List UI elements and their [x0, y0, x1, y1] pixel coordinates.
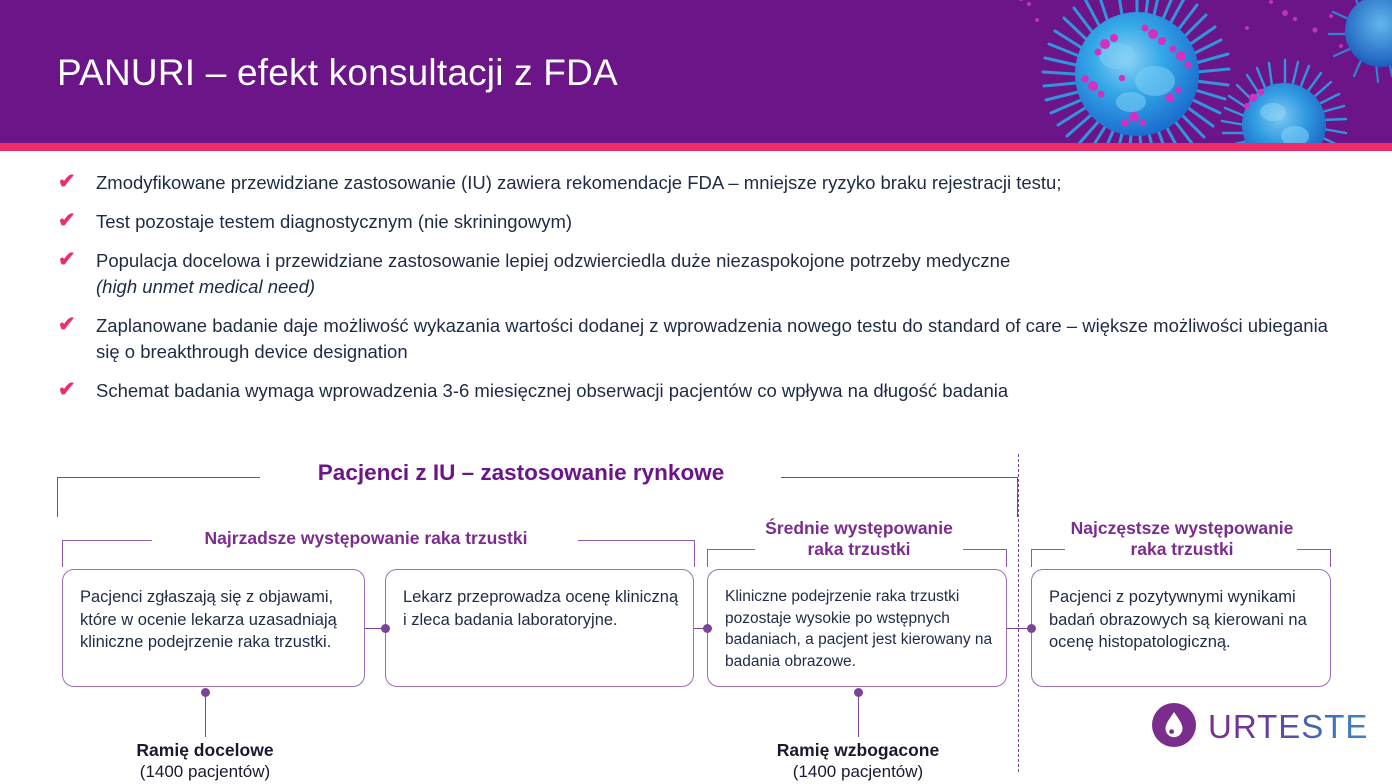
- list-item-text: Populacja docelowa i przewidziane zastos…: [96, 250, 1356, 300]
- flow-step-4[interactable]: Pacjenci z pozytywnymi wynikami badań ob…: [1031, 569, 1331, 687]
- flow-step-2[interactable]: Lekarz przeprowadza ocenę kliniczną i zl…: [385, 569, 694, 687]
- group-label-frequent-line2: raka trzustki: [1067, 539, 1297, 560]
- enriched-arm-label: Ramię wzbogacone (1400 pacjentów): [738, 739, 978, 783]
- urteste-logo: URTESTE: [1152, 700, 1352, 752]
- check-icon: ✔: [58, 210, 80, 232]
- page-title: PANURI – efekt konsultacji z FDA: [57, 52, 618, 94]
- group-frequent-left-rule: [1031, 549, 1065, 550]
- cell-artwork-icon: [985, 0, 1392, 143]
- group-medium-left-tick: [707, 549, 708, 567]
- market-scope-title: Pacjenci z IU – zastosowanie rynkowe: [265, 462, 777, 483]
- enriched-arm-count: (1400 pacjentów): [738, 761, 978, 783]
- slide-root: PANURI – efekt konsultacji z FDA ✔ Zmody…: [0, 0, 1392, 784]
- list-item: ✔ Zaplanowane badanie daje możliwość wyk…: [56, 313, 1356, 365]
- enriched-arm-leader-line: [858, 692, 859, 737]
- check-icon: ✔: [58, 314, 80, 336]
- flow-step-1-text: Pacjenci zgłaszają się z objawami, które…: [80, 586, 354, 654]
- group-frequent-left-tick: [1031, 549, 1032, 567]
- list-item: ✔ Populacja docelowa i przewidziane zast…: [56, 248, 1356, 300]
- header-accent-stripe: [0, 143, 1392, 151]
- group-label-rare: Najrzadsze występowanie raka trzustki: [156, 528, 576, 549]
- scope-divider: [1018, 454, 1019, 772]
- group-medium-left-rule: [707, 549, 755, 550]
- logo-circle-mark: [1152, 703, 1196, 747]
- list-item-text: Zaplanowane badanie daje możliwość wykaz…: [96, 315, 1328, 362]
- list-item: ✔ Test pozostaje testem diagnostycznym (…: [56, 209, 1356, 235]
- group-label-frequent-line1: Najczęstsze występowanie: [1067, 518, 1297, 539]
- target-arm-leader-line: [205, 692, 206, 737]
- flow-step-1[interactable]: Pacjenci zgłaszają się z objawami, które…: [62, 569, 365, 687]
- group-label-medium-line1: Średnie występowanie: [756, 518, 962, 539]
- list-item: ✔ Schemat badania wymaga wprowadzenia 3-…: [56, 378, 1356, 404]
- check-icon: ✔: [58, 379, 80, 401]
- flow-step-4-text: Pacjenci z pozytywnymi wynikami badań ob…: [1049, 586, 1320, 654]
- check-icon: ✔: [58, 249, 80, 271]
- list-item-text: Zmodyfikowane przewidziane zastosowanie …: [96, 172, 1061, 193]
- market-bracket-left-tick: [57, 477, 58, 517]
- group-frequent-right-tick: [1330, 549, 1331, 567]
- group-rare-left-tick: [62, 540, 63, 567]
- connector-1-2-dot: [381, 624, 390, 633]
- group-medium-right-tick: [1006, 549, 1007, 567]
- enriched-arm-name: Ramię wzbogacone: [738, 739, 978, 761]
- group-frequent-right-rule: [1297, 549, 1331, 550]
- flow-step-3-text: Kliniczne podejrzenie raka trzustki pozo…: [725, 586, 996, 672]
- list-item-text: Schemat badania wymaga wprowadzenia 3-6 …: [96, 380, 1008, 401]
- bullet-list: ✔ Zmodyfikowane przewidziane zastosowani…: [56, 170, 1356, 417]
- group-rare-right-rule: [578, 540, 695, 541]
- group-rare-left-rule: [62, 540, 152, 541]
- group-label-medium-line2: raka trzustki: [756, 539, 962, 560]
- list-item-text: Test pozostaje testem diagnostycznym (ni…: [96, 211, 572, 232]
- list-item-italic: (high unmet medical need): [96, 274, 1356, 300]
- target-arm-dot: [201, 688, 210, 697]
- list-item: ✔ Zmodyfikowane przewidziane zastosowani…: [56, 170, 1356, 196]
- target-arm-label: Ramię docelowe (1400 pacjentów): [85, 739, 325, 783]
- enriched-arm-dot: [854, 688, 863, 697]
- list-item-main: Populacja docelowa i przewidziane zastos…: [96, 250, 1010, 271]
- target-arm-count: (1400 pacjentów): [85, 761, 325, 783]
- check-icon: ✔: [58, 171, 80, 193]
- group-medium-right-rule: [963, 549, 1007, 550]
- connector-2-3-dot: [703, 624, 712, 633]
- droplet-icon: [1152, 703, 1196, 747]
- connector-3-4-dot: [1027, 624, 1036, 633]
- flow-step-3[interactable]: Kliniczne podejrzenie raka trzustki pozo…: [707, 569, 1007, 687]
- flow-step-2-text: Lekarz przeprowadza ocenę kliniczną i zl…: [403, 586, 683, 631]
- target-arm-name: Ramię docelowe: [85, 739, 325, 761]
- market-bracket-right-rule: [781, 477, 1018, 478]
- market-bracket-left-rule: [57, 477, 260, 478]
- slide-header-band: PANURI – efekt konsultacji z FDA: [0, 0, 1392, 143]
- group-rare-right-tick: [694, 540, 695, 567]
- logo-wordmark: URTESTE: [1208, 708, 1368, 746]
